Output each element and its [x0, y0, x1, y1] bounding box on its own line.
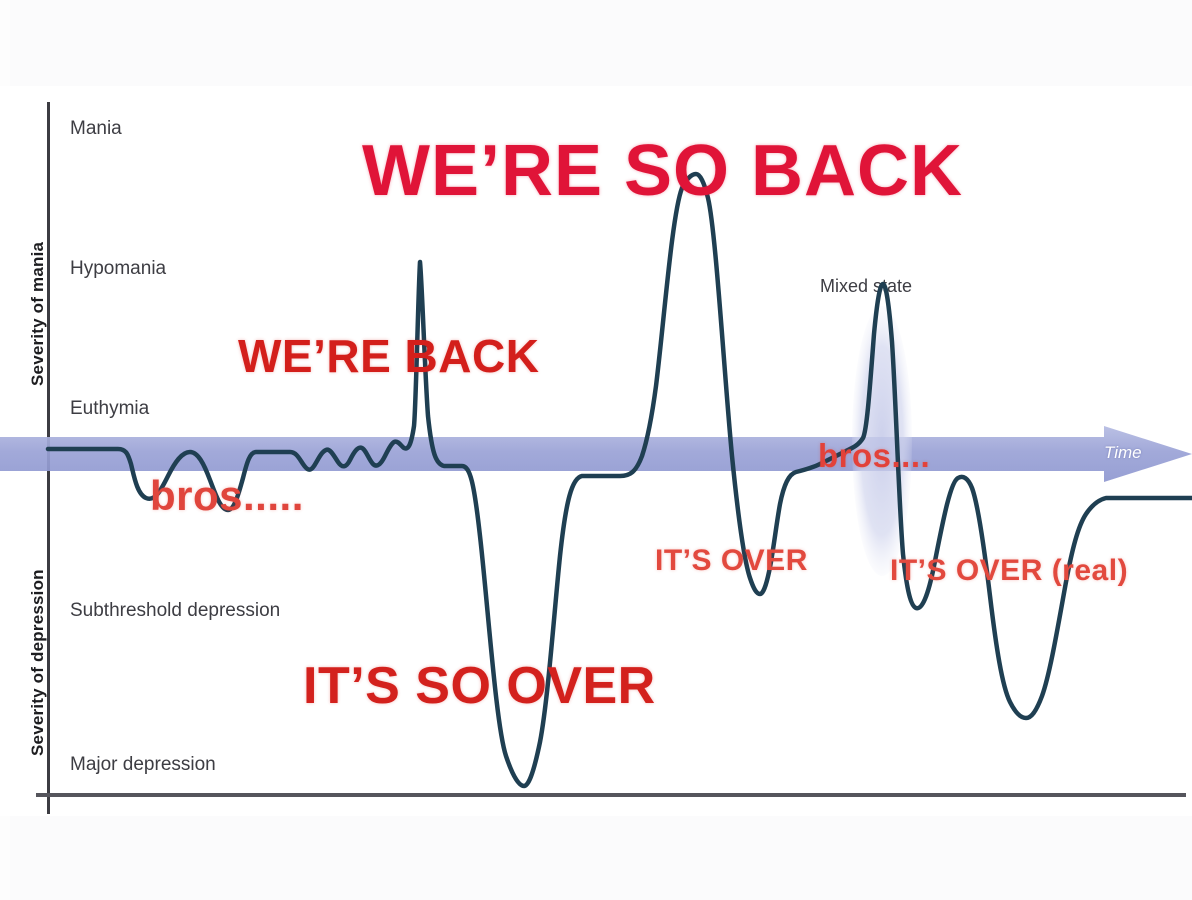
letterbox-top: [0, 0, 1192, 88]
meme-caption-its-over: IT’S OVER: [655, 544, 808, 578]
meme-caption-its-over-real: IT’S OVER (real): [890, 554, 1128, 588]
meme-caption-bros-second: bros....: [818, 437, 930, 475]
meme-caption-bros-first: bros.....: [150, 472, 304, 520]
meme-caption-its-so-over: IT’S SO OVER: [303, 656, 656, 716]
letterbox-bottom: [0, 812, 1192, 900]
meme-caption-were-so-back: WE’RE SO BACK: [362, 130, 963, 212]
chart-plate: Severity of mania Severity of depression…: [0, 86, 1192, 816]
meme-image-root: Severity of mania Severity of depression…: [0, 0, 1192, 900]
meme-caption-were-back: WE’RE BACK: [238, 329, 539, 383]
